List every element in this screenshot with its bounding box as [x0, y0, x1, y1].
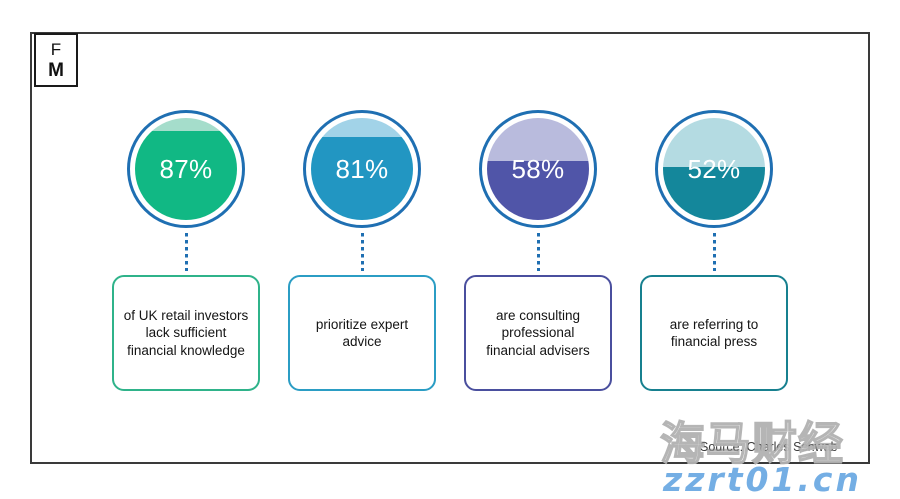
- gauge-3: 58%: [479, 110, 597, 228]
- logo-badge: F M: [34, 33, 78, 87]
- connector-dotted-3: [537, 233, 540, 271]
- logo-line-f: F: [51, 41, 61, 58]
- watermark-url: zzrt01.cn: [663, 462, 862, 498]
- gauge-percent-label-3: 58%: [479, 110, 597, 228]
- caption-text-1: of UK retail investors lack sufficient f…: [123, 307, 249, 360]
- gauge-percent-label-4: 52%: [655, 110, 773, 228]
- caption-text-3: are consulting professional financial ad…: [475, 307, 601, 360]
- logo-line-m: M: [48, 61, 64, 80]
- gauge-percent-label-2: 81%: [303, 110, 421, 228]
- caption-box-1: of UK retail investors lack sufficient f…: [112, 275, 260, 391]
- gauge-2: 81%: [303, 110, 421, 228]
- connector-dotted-4: [713, 233, 716, 271]
- stat-column-2: 81% prioritize expert advice: [286, 34, 438, 462]
- caption-box-4: are referring to financial press: [640, 275, 788, 391]
- caption-text-4: are referring to financial press: [651, 316, 777, 351]
- stat-column-3: 58% are consulting professional financia…: [462, 34, 614, 462]
- stat-column-1: 87% of UK retail investors lack sufficie…: [110, 34, 262, 462]
- connector-dotted-2: [361, 233, 364, 271]
- gauge-percent-label-1: 87%: [127, 110, 245, 228]
- stat-column-4: 52% are referring to financial press: [638, 34, 790, 462]
- caption-box-3: are consulting professional financial ad…: [464, 275, 612, 391]
- stat-columns: 87% of UK retail investors lack sufficie…: [32, 34, 868, 462]
- caption-text-2: prioritize expert advice: [299, 316, 425, 351]
- connector-dotted-1: [185, 233, 188, 271]
- caption-box-2: prioritize expert advice: [288, 275, 436, 391]
- gauge-4: 52%: [655, 110, 773, 228]
- source-attribution: Source: Charles Schwab: [700, 440, 838, 454]
- gauge-1: 87%: [127, 110, 245, 228]
